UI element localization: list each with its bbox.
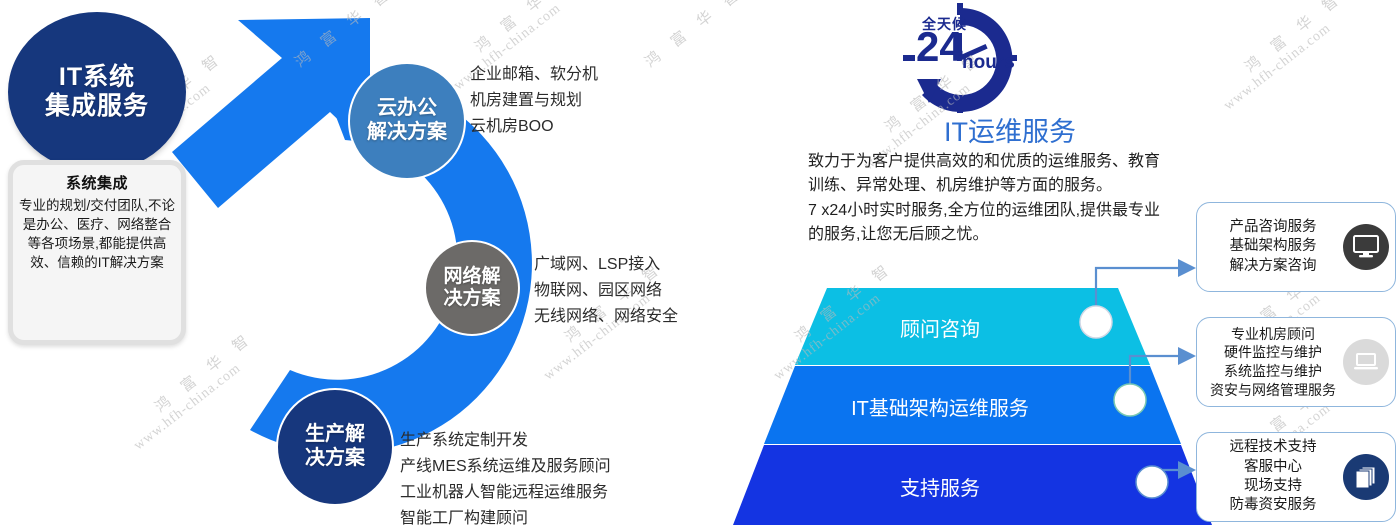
info-card-product-consulting[interactable]: 产品咨询服务 基础架构服务 解决方案咨询 bbox=[1196, 202, 1396, 292]
card-0-line-2: 基础架构服务 bbox=[1205, 237, 1341, 256]
node-bubble-network[interactable]: 网络解 决方案 bbox=[424, 240, 520, 336]
documents-icon bbox=[1343, 454, 1389, 500]
hub-bubble-it-system[interactable]: IT系统 集成服务 bbox=[8, 12, 186, 172]
desc-line-3: 7 x24小时实时服务,全方位的运维团队,提供最专业 bbox=[808, 199, 1208, 223]
infographic-canvas: IT系统 集成服务 系统集成 专业的规划/交付团队,不论是办公、医疗、网络整合等… bbox=[0, 0, 1400, 530]
info-card-datacenter-consulting[interactable]: 专业机房顾问 硬件监控与维护 系统监控与维护 资安与网络管理服务 bbox=[1196, 317, 1396, 407]
note-production-line-4: 智能工厂构建顾问 bbox=[400, 506, 611, 530]
card-0-line-1: 产品咨询服务 bbox=[1205, 218, 1341, 237]
note-cloud-line-2: 机房建置与规划 bbox=[470, 88, 598, 114]
card-1-line-2: 硬件监控与维护 bbox=[1205, 343, 1341, 362]
desc-line-1: 致力于为客户提供高效的和优质的运维服务、教育 bbox=[808, 150, 1208, 174]
note-production-line-3: 工业机器人智能远程运维服务 bbox=[400, 480, 611, 506]
card-1-line-4: 资安与网络管理服务 bbox=[1205, 381, 1341, 400]
hub-line-2: 集成服务 bbox=[45, 92, 149, 122]
card-1-line-1: 专业机房顾问 bbox=[1205, 325, 1341, 344]
note-network-line-2: 物联网、园区网络 bbox=[534, 278, 678, 304]
logo-number: 24 bbox=[916, 26, 963, 68]
card-2-line-1: 远程技术支持 bbox=[1205, 438, 1341, 457]
note-production-line-2: 产线MES系统运维及服务顾问 bbox=[400, 454, 611, 480]
pyramid-label-support: 支持服务 bbox=[740, 472, 1140, 501]
connector-arrowheads bbox=[1178, 259, 1196, 479]
pyramid-label-consulting: 顾问咨询 bbox=[790, 313, 1090, 342]
hub-line-1: IT系统 bbox=[59, 63, 135, 93]
note-production-line-1: 生产系统定制开发 bbox=[400, 428, 611, 454]
desc-line-4: 的服务,让您无后顾之忧。 bbox=[808, 223, 1208, 247]
card-2-line-3: 现场支持 bbox=[1205, 477, 1341, 496]
note-cloud-line-1: 企业邮箱、软分机 bbox=[470, 62, 598, 88]
node-bubble-production[interactable]: 生产解 决方案 bbox=[276, 388, 394, 506]
node-cloud-line-1: 云办公 bbox=[377, 97, 437, 121]
note-network: 广域网、LSP接入 物联网、园区网络 无线网络、网络安全 bbox=[534, 252, 678, 330]
card-0-lines: 产品咨询服务 基础架构服务 解决方案咨询 bbox=[1205, 218, 1341, 276]
note-network-line-1: 广域网、LSP接入 bbox=[534, 252, 678, 278]
connector-lines bbox=[1096, 268, 1182, 482]
node-cloud-line-2: 解决方案 bbox=[367, 121, 447, 145]
card-2-line-2: 客服中心 bbox=[1205, 458, 1341, 477]
note-network-line-3: 无线网络、网络安全 bbox=[534, 304, 678, 330]
info-card-remote-support[interactable]: 远程技术支持 客服中心 现场支持 防毒资安服务 bbox=[1196, 432, 1396, 522]
card-1-line-3: 系统监控与维护 bbox=[1205, 362, 1341, 381]
node-network-line-2: 决方案 bbox=[443, 288, 500, 310]
card-0-line-3: 解决方案咨询 bbox=[1205, 257, 1341, 276]
note-cloud-office: 企业邮箱、软分机 机房建置与规划 云机房BOO bbox=[470, 62, 598, 140]
card-2-lines: 远程技术支持 客服中心 现场支持 防毒资安服务 bbox=[1205, 438, 1341, 516]
note-cloud-line-3: 云机房BOO bbox=[470, 114, 598, 140]
desc-line-2: 训练、异常处理、机房维护等方面的服务。 bbox=[808, 174, 1208, 198]
node-network-line-1: 网络解 bbox=[443, 266, 500, 288]
node-bubble-cloud-office[interactable]: 云办公 解决方案 bbox=[348, 62, 466, 180]
system-integration-card[interactable]: 系统集成 专业的规划/交付团队,不论是办公、医疗、网络整合等各项场景,都能提供高… bbox=[8, 160, 186, 345]
monitor-icon bbox=[1343, 224, 1389, 270]
laptop-icon bbox=[1343, 339, 1389, 385]
card-2-line-4: 防毒资安服务 bbox=[1205, 496, 1341, 515]
page-title-it-operations: IT运维服务 bbox=[800, 110, 1220, 149]
system-integration-body: 专业的规划/交付团队,不论是办公、医疗、网络整合等各项场景,都能提供高效、信赖的… bbox=[19, 196, 175, 273]
card-1-lines: 专业机房顾问 硬件监控与维护 系统监控与维护 资安与网络管理服务 bbox=[1205, 325, 1341, 400]
note-production: 生产系统定制开发 产线MES系统运维及服务顾问 工业机器人智能远程运维服务 智能… bbox=[400, 428, 611, 530]
pyramid-label-infrastructure: IT基础架构运维服务 bbox=[740, 392, 1140, 421]
node-production-line-1: 生产解 bbox=[305, 423, 365, 447]
logo-unit: hours bbox=[962, 52, 1015, 74]
system-integration-title: 系统集成 bbox=[19, 172, 175, 193]
right-vector-layer bbox=[0, 0, 1400, 530]
node-production-line-2: 决方案 bbox=[305, 447, 365, 471]
it-operations-description: 致力于为客户提供高效的和优质的运维服务、教育 训练、异常处理、机房维护等方面的服… bbox=[808, 150, 1208, 247]
